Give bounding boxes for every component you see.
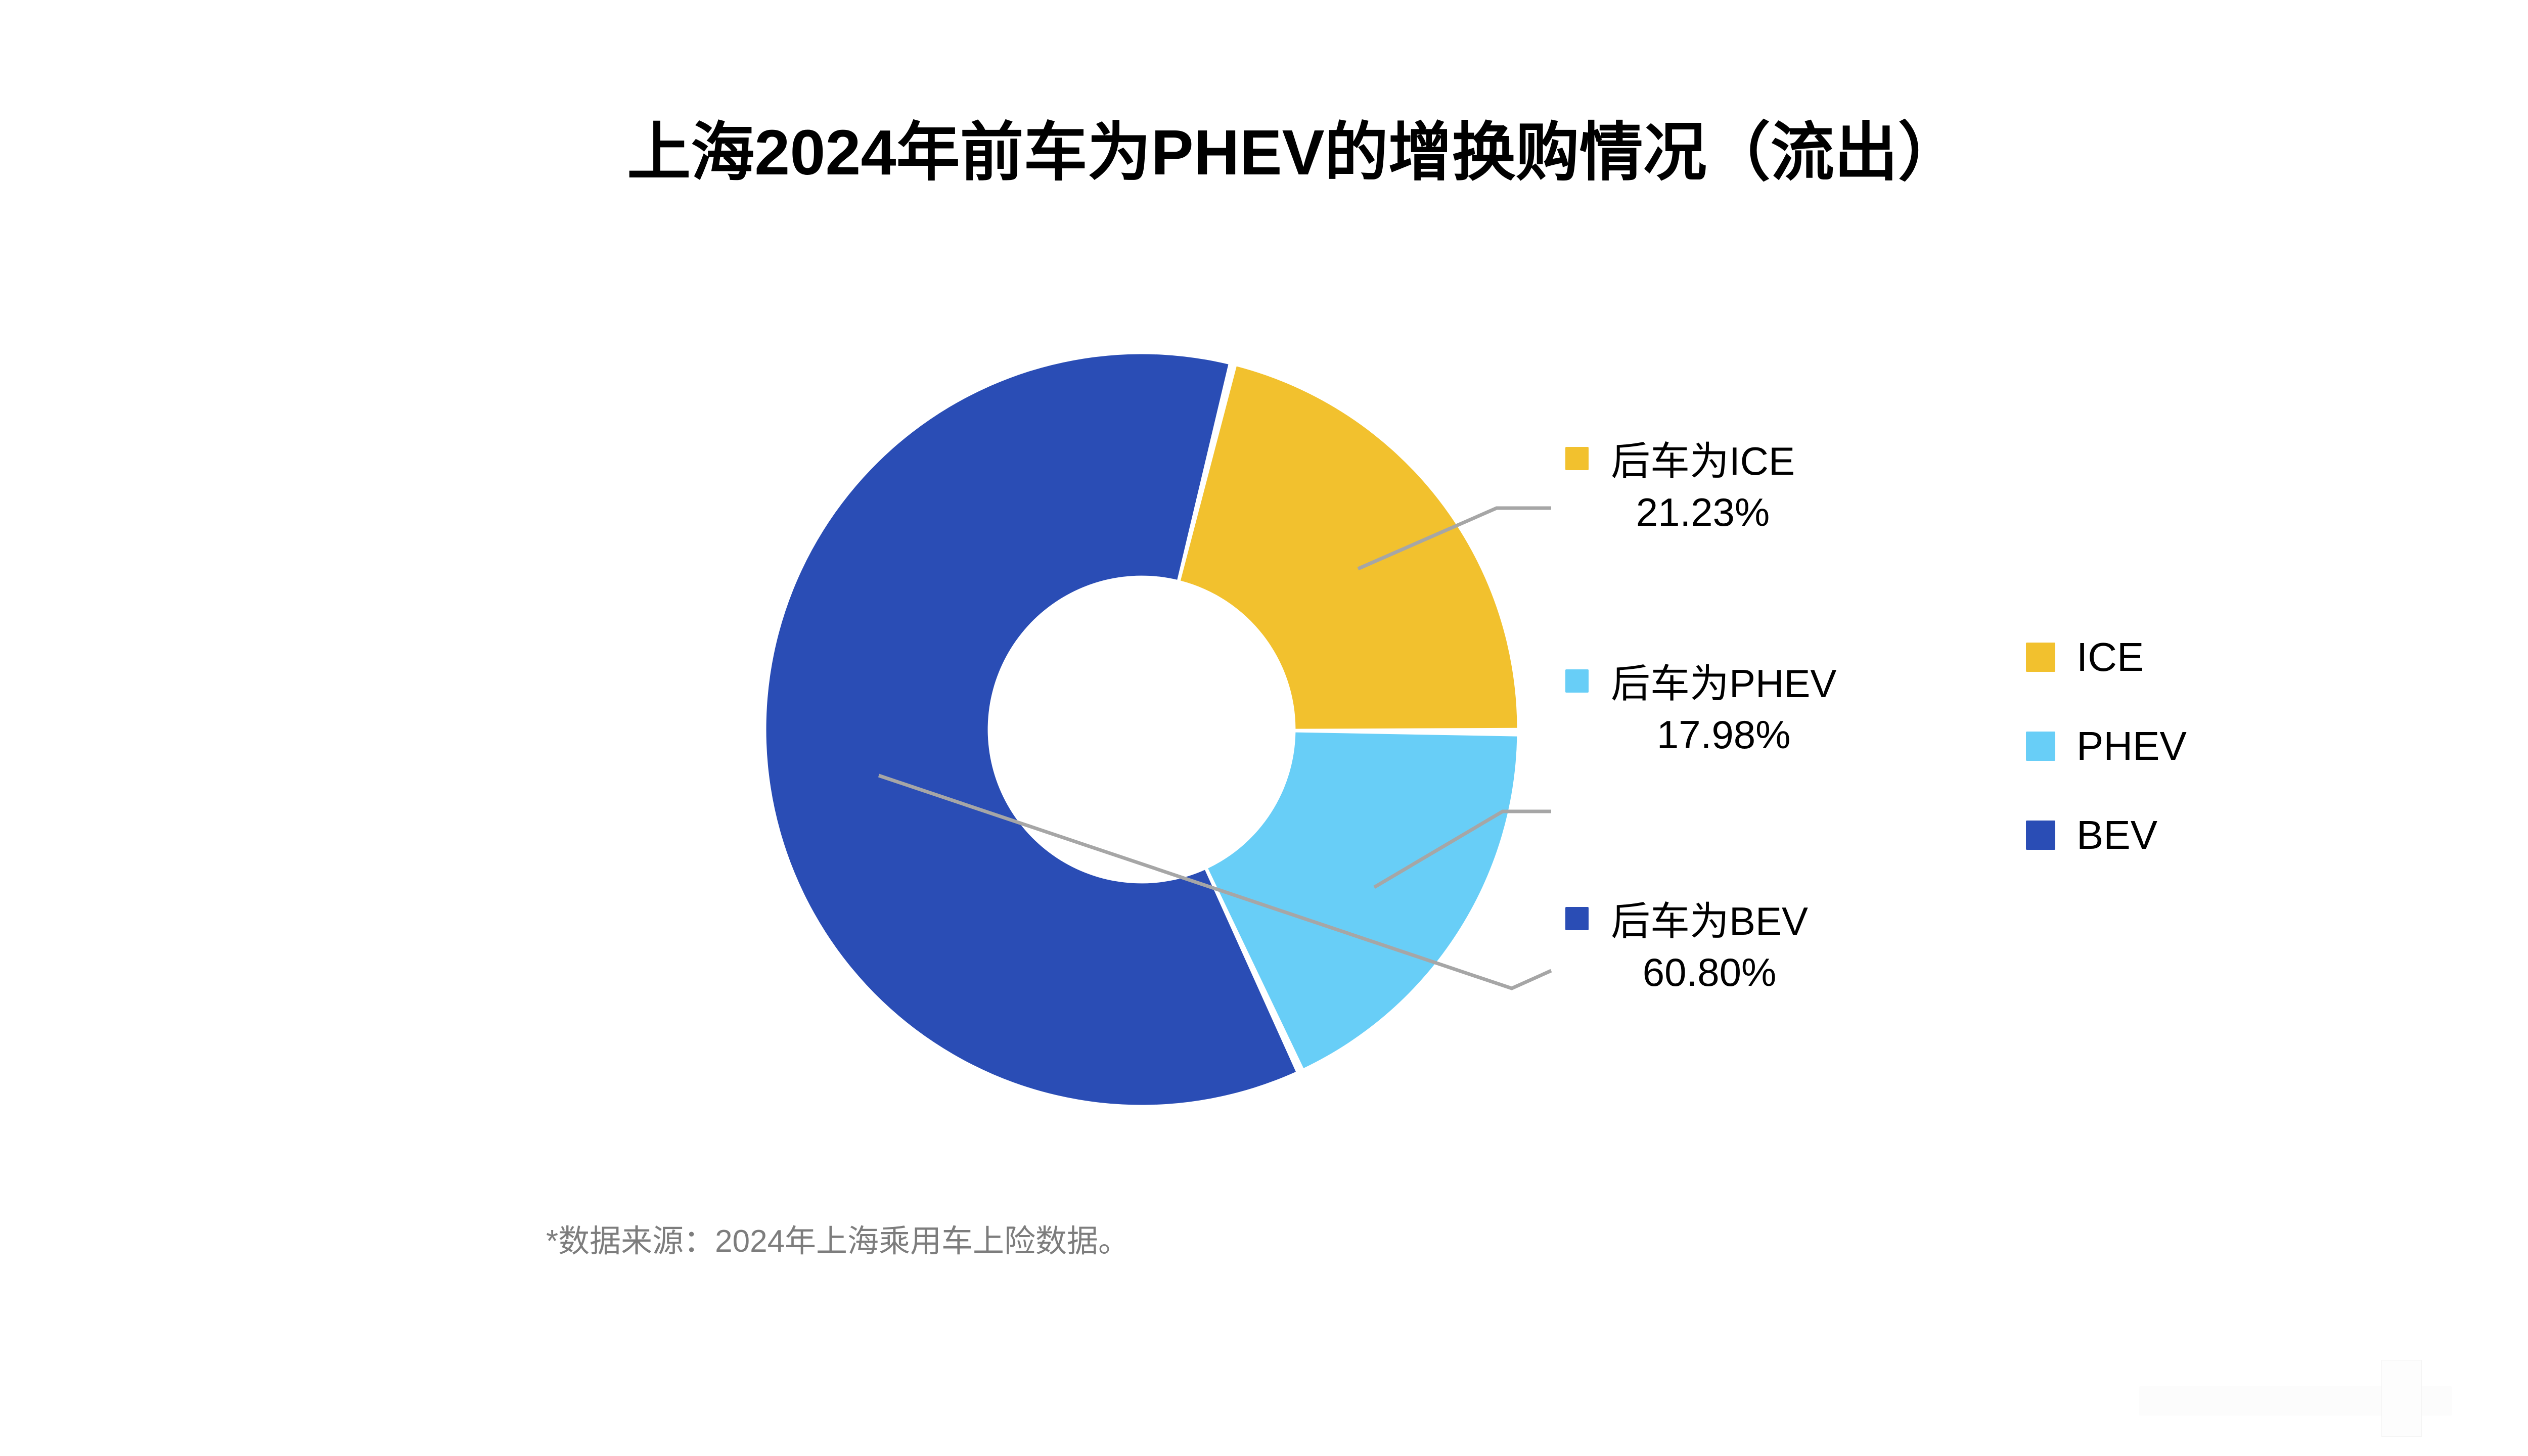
legend-label-bev: BEV (2076, 815, 2157, 855)
slide-canvas: 上海2024年前车为PHEV的增换购情况（流出） 后车为ICE 21.23% 后… (0, 0, 2528, 1456)
source-footnote: *数据来源：2024年上海乘用车上险数据。 (546, 1215, 1130, 1261)
legend-item-ice[interactable]: ICE (2026, 613, 2187, 702)
callout-text-bev: 后车为BEV 60.80% (1611, 896, 1808, 998)
callout-text-ice: 后车为ICE 21.23% (1611, 436, 1795, 538)
page-title: 上海2024年前车为PHEV的增换购情况（流出） (0, 115, 2528, 191)
legend-item-bev[interactable]: BEV (2026, 791, 2187, 880)
legend-swatch-ice (2026, 643, 2055, 672)
callout-label-bev: 后车为BEV (1611, 899, 1808, 943)
callout-swatch-ice (1565, 447, 1589, 470)
callout-phev: 后车为PHEV 17.98% (1565, 658, 1836, 761)
callout-text-phev: 后车为PHEV 17.98% (1611, 658, 1836, 761)
callout-swatch-bev (1565, 907, 1589, 930)
callout-ice: 后车为ICE 21.23% (1565, 436, 1795, 538)
legend-swatch-phev (2026, 732, 2055, 761)
legend-swatch-bev (2026, 821, 2055, 850)
watermark-badge (2381, 1360, 2422, 1437)
callout-swatch-phev (1565, 669, 1589, 693)
callout-bev: 后车为BEV 60.80% (1565, 896, 1808, 998)
legend-item-phev[interactable]: PHEV (2026, 702, 2187, 791)
callout-value-bev: 60.80% (1611, 947, 1808, 998)
callout-value-ice: 21.23% (1611, 487, 1795, 538)
donut-slice-group (766, 354, 1517, 1105)
donut-slice-ice[interactable] (1181, 367, 1517, 729)
callout-label-phev: 后车为PHEV (1611, 661, 1836, 706)
donut-chart-svg (766, 354, 1517, 1105)
legend-label-ice: ICE (2076, 637, 2144, 677)
donut-chart (766, 354, 1517, 1105)
callout-value-phev: 17.98% (1611, 709, 1836, 760)
callout-label-ice: 后车为ICE (1611, 439, 1795, 483)
legend-label-phev: PHEV (2076, 726, 2187, 766)
chart-legend: ICEPHEVBEV (2026, 613, 2187, 880)
